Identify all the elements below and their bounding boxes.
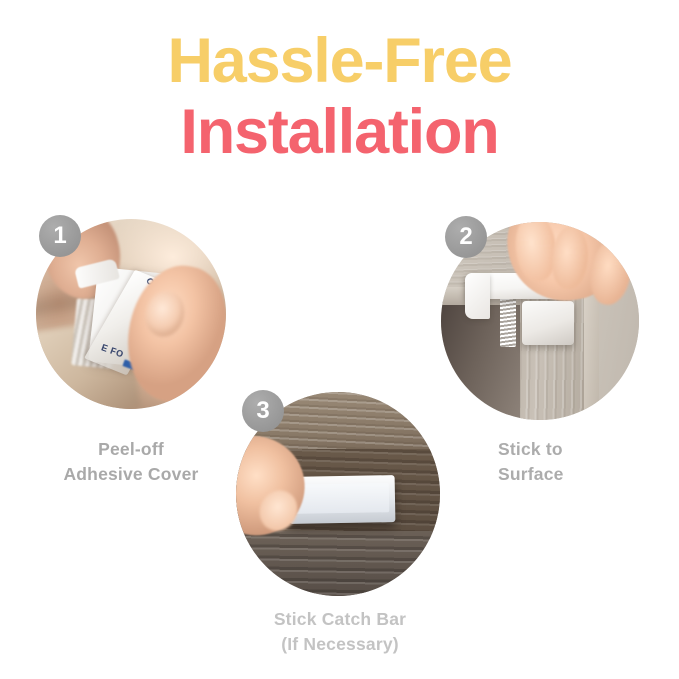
step-2: 2 — [441, 222, 639, 420]
latch-spring — [500, 295, 516, 346]
step-1: OAM E FO 1 — [36, 219, 226, 409]
cabinet-lower-panel — [236, 531, 440, 596]
title-line-hassle-free: Hassle-Free — [0, 30, 679, 93]
step-3-caption: Stick Catch Bar (If Necessary) — [218, 607, 462, 657]
latch-base — [522, 301, 573, 345]
step-3: 3 — [236, 392, 440, 596]
step-number-badge-2: 2 — [445, 216, 487, 258]
title-line-installation: Installation — [0, 101, 679, 164]
step-2-caption: Stick to Surface — [498, 437, 678, 487]
catch-bar-channel — [295, 483, 389, 513]
step-2-caption-line-1: Stick to — [498, 437, 678, 462]
step-2-caption-line-2: Surface — [498, 462, 678, 487]
step-3-caption-line-1: Stick Catch Bar — [218, 607, 462, 632]
page-title: Hassle-Free Installation — [0, 30, 679, 164]
latch-hook — [465, 273, 491, 319]
infographic-canvas: Hassle-Free Installation OAM E FO 1 Peel… — [0, 0, 679, 679]
step-1-caption: Peel-off Adhesive Cover — [14, 437, 248, 487]
step-number-badge-1: 1 — [39, 215, 81, 257]
step-1-caption-line-1: Peel-off — [14, 437, 248, 462]
step-3-caption-line-2: (If Necessary) — [218, 632, 462, 657]
step-1-caption-line-2: Adhesive Cover — [14, 462, 248, 487]
step-number-badge-3: 3 — [242, 390, 284, 432]
